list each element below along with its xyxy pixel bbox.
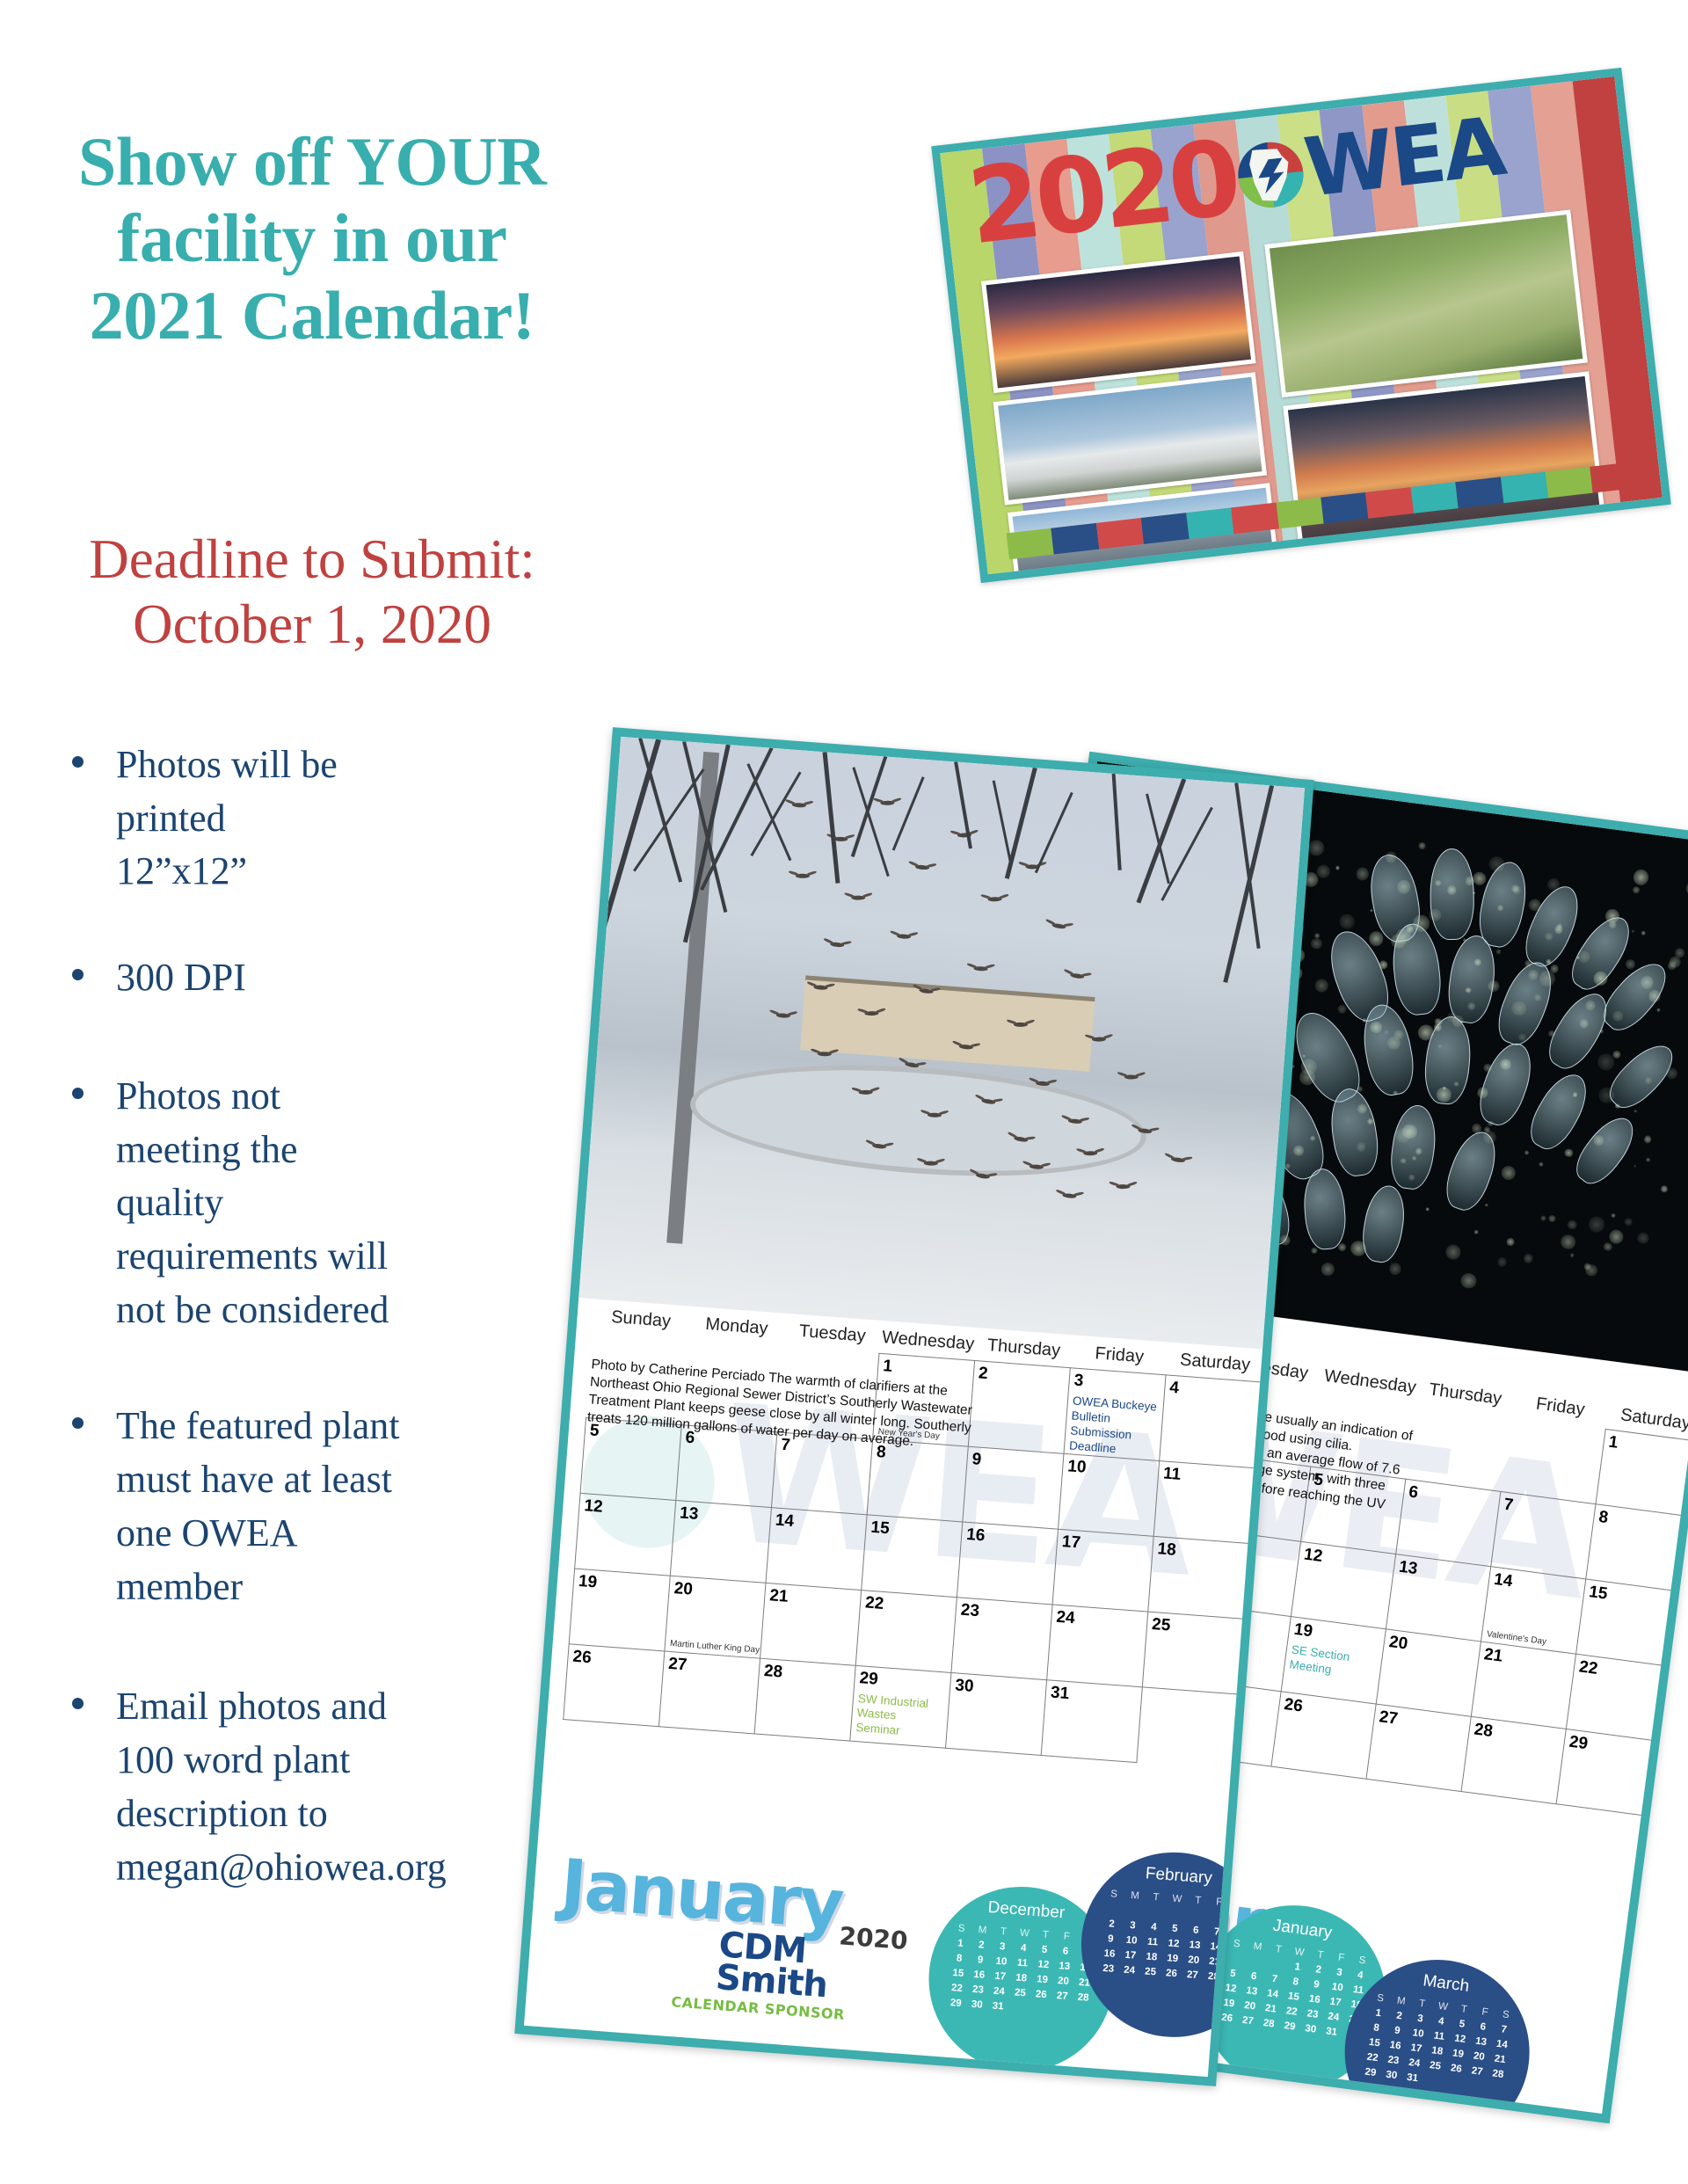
- cover-bottom-stripe-block: [1501, 472, 1548, 504]
- goose: [1014, 1023, 1028, 1027]
- calendar-day-cell[interactable]: 22: [855, 1590, 957, 1672]
- mini-day-number: [1008, 1999, 1030, 2016]
- mini-day-number: 11: [1011, 1955, 1033, 1971]
- floc-particle: [1637, 1232, 1649, 1244]
- calendar-day-cell[interactable]: 15: [1576, 1579, 1681, 1666]
- floc-particle: [1435, 879, 1441, 885]
- january-grid: SundayMondayTuesdayWednesdayThursdayFrid…: [563, 1306, 1263, 1769]
- goose: [988, 897, 1002, 901]
- mini-day-number: 28: [1073, 1989, 1095, 2006]
- mini-dow-label: T: [1035, 1926, 1057, 1943]
- calendar-day-cell[interactable]: 29: [1556, 1729, 1661, 1816]
- floc-particle: [1632, 886, 1640, 894]
- floc-particle: [1419, 842, 1426, 849]
- floc-particle: [1357, 1085, 1364, 1092]
- floc-particle: [1368, 930, 1385, 947]
- stalked-ciliate: [1358, 1183, 1409, 1265]
- mini-day-number: 6: [1054, 1943, 1076, 1960]
- january-calendar-page: WEA SundayMondayTuesdayWednesdayThursday…: [514, 727, 1313, 2086]
- tree-branch: [1112, 774, 1122, 870]
- calendar-day-cell[interactable]: 18: [1148, 1536, 1249, 1619]
- calendar-day-cell[interactable]: 17: [1052, 1529, 1153, 1612]
- mini-dow-label: W: [1166, 1890, 1188, 1907]
- floc-particle: [1473, 892, 1475, 894]
- mini-day-number: 6: [1185, 1922, 1207, 1939]
- mini-day-number: 26: [1160, 1965, 1182, 1982]
- mini-day-number: 11: [1142, 1933, 1164, 1950]
- mini-day-number: 8: [949, 1950, 971, 1967]
- goose: [880, 801, 894, 805]
- floc-particle: [1279, 1234, 1291, 1246]
- cdm-smith-sponsor-logo: CDM Smith CALENDAR SPONSOR: [671, 1926, 851, 2023]
- calendar-day-cell[interactable]: 8: [1586, 1504, 1688, 1591]
- calendar-cell-empty: [1137, 1686, 1238, 1769]
- mini-dow-label: T: [1267, 1940, 1290, 1958]
- tree-branch: [746, 763, 791, 861]
- calendar-cover-image: 2020 WEA: [931, 68, 1671, 583]
- goose: [776, 1013, 790, 1018]
- calendar-day-cell[interactable]: 16: [957, 1521, 1058, 1604]
- mini-day-number: [1050, 2003, 1072, 2020]
- cover-bottom-stripe-block: [1186, 507, 1233, 539]
- floc-particle: [1611, 1213, 1616, 1219]
- deadline-label: Deadline to Submit:: [18, 528, 607, 593]
- floc-particle: [1307, 839, 1325, 856]
- calendar-day-cell[interactable]: 27: [658, 1650, 760, 1733]
- mini-dow-label: W: [1288, 1943, 1311, 1961]
- floc-particle: [1463, 938, 1466, 942]
- cover-bottom-stripe-block: [1410, 482, 1458, 513]
- floc-particle: [1668, 961, 1677, 970]
- list-item: The featured plant must have at least on…: [62, 1400, 431, 1613]
- goose: [792, 803, 806, 808]
- floc-particle: [1675, 948, 1685, 958]
- goose: [897, 934, 911, 939]
- floc-particle: [1454, 1081, 1459, 1087]
- mini-day-number: [1422, 2071, 1444, 2089]
- mini-dow-label: T: [1452, 2000, 1475, 2018]
- mini-day-number: 16: [1098, 1946, 1120, 1962]
- floc-particle: [1660, 1185, 1669, 1194]
- mini-day-number: [1165, 1905, 1187, 1922]
- calendar-day-cell[interactable]: 28: [1461, 1716, 1566, 1803]
- floc-particle: [1612, 1050, 1621, 1059]
- day-number: 4: [1165, 1375, 1262, 1404]
- requirements-list: Photos will be printed 12”x12” 300 DPI P…: [62, 739, 615, 1947]
- mini-dow-label: F: [1208, 1894, 1230, 1911]
- list-item: Photos not meeting the quality requireme…: [62, 1070, 391, 1337]
- mini-day-number: 27: [1182, 1967, 1204, 1984]
- floc-particle: [1599, 1030, 1604, 1034]
- cover-org-text: WEA: [1300, 106, 1507, 209]
- calendar-day-cell[interactable]: 13: [670, 1500, 771, 1583]
- floc-particle: [1379, 959, 1389, 970]
- mini-dow-label: T: [1309, 1946, 1332, 1963]
- mini-day-number: 18: [1140, 1948, 1162, 1965]
- floc-particle: [1524, 1150, 1529, 1155]
- floc-particle: [1285, 1163, 1291, 1168]
- cover-year-text: 2020: [964, 126, 1241, 259]
- goose: [818, 1052, 832, 1056]
- goose: [976, 1173, 991, 1180]
- mini-day-number: 24: [988, 1983, 1010, 1999]
- calendar-day-cell[interactable]: 14Valentine's Day: [1481, 1567, 1585, 1654]
- floc-particle: [1561, 1234, 1576, 1249]
- floc-particle: [1646, 1158, 1651, 1163]
- calendar-day-cell[interactable]: 29SW Industrial Wastes Seminar: [850, 1665, 951, 1748]
- mini-date-table: SMTWTFS123456789101112131415161718192021…: [945, 1920, 1099, 2020]
- mini-day-number: 17: [989, 1968, 1011, 1984]
- mini-day-number: [1443, 2074, 1466, 2092]
- mini-day-number: [1102, 1901, 1124, 1918]
- mini-day-number: 28: [1257, 2014, 1280, 2032]
- floc-particle: [1412, 914, 1430, 932]
- mini-day-number: 1: [949, 1935, 971, 1952]
- calendar-day-cell[interactable]: 19SE Section Meeting: [1281, 1617, 1386, 1704]
- floc-particle: [1339, 913, 1356, 929]
- floc-particle: [1425, 1208, 1429, 1212]
- mini-day-number: 18: [1010, 1969, 1032, 1986]
- mini-day-number: 19: [1031, 1971, 1053, 1988]
- calendar-day-cell[interactable]: 12: [1291, 1541, 1395, 1628]
- tree-branch: [1223, 785, 1274, 983]
- floc-particle: [1550, 965, 1560, 974]
- cover-bottom-stripe-block: [1590, 462, 1638, 493]
- mini-day-number: 31: [1321, 2023, 1343, 2041]
- calendar-day-cell[interactable]: 7: [1491, 1491, 1596, 1578]
- mini-day-number: 23: [967, 1981, 989, 1998]
- floc-particle: [1309, 1135, 1315, 1141]
- mini-day-number: 9: [969, 1952, 991, 1969]
- floc-particle: [1384, 1030, 1388, 1034]
- mini-day-number: 26: [1030, 1986, 1052, 2003]
- page-title: Show off YOUR facility in our 2021 Calen…: [18, 123, 607, 353]
- floc-particle: [1643, 1135, 1652, 1144]
- mini-day-number: 15: [947, 1965, 969, 1982]
- mini-day-number: [1029, 2001, 1051, 2018]
- floc-particle: [1665, 1067, 1678, 1080]
- goose: [973, 966, 987, 972]
- floc-particle: [1321, 1263, 1335, 1277]
- mini-day-number: 12: [1032, 1956, 1054, 1973]
- floc-particle: [1641, 931, 1646, 936]
- floc-particle: [1311, 1248, 1318, 1255]
- calendar-day-cell[interactable]: 11: [1153, 1460, 1255, 1543]
- goose: [1092, 1037, 1106, 1041]
- mini-dow-label: T: [993, 1923, 1015, 1940]
- mini-day-number: 20: [1052, 1973, 1074, 1990]
- floc-particle: [1633, 1110, 1637, 1113]
- cover-bottom-stripe-block: [1456, 477, 1503, 508]
- floc-particle: [1546, 958, 1551, 964]
- mini-day-number: 22: [946, 1980, 968, 1997]
- calendar-day-cell[interactable]: 26: [1271, 1692, 1376, 1779]
- mini-day-number: 3: [1122, 1917, 1144, 1933]
- calendar-day-cell[interactable]: 15: [862, 1514, 963, 1597]
- mini-dow-label: M: [1124, 1888, 1146, 1904]
- list-item: 300 DPI: [62, 951, 343, 1005]
- floc-particle: [1389, 1263, 1402, 1276]
- floc-particle: [1548, 1215, 1556, 1223]
- tree-branch: [1137, 778, 1187, 903]
- mini-day-number: 9: [1100, 1931, 1122, 1947]
- stalked-ciliate: [1568, 1109, 1643, 1191]
- floc-particle: [1314, 979, 1328, 993]
- calendar-day-cell[interactable]: 30: [946, 1672, 1047, 1755]
- cover-bottom-stripe-block: [1231, 503, 1278, 535]
- mini-day-number: 17: [1119, 1947, 1141, 1963]
- calendar-day-cell[interactable]: 10: [1059, 1453, 1160, 1536]
- calendar-day-cell[interactable]: 21: [1471, 1642, 1575, 1729]
- cover-bottom-stripe-block: [1096, 518, 1144, 550]
- floc-particle: [1337, 1004, 1347, 1014]
- mini-dow-label: M: [971, 1922, 993, 1939]
- calendar-cell-empty: [1501, 1416, 1605, 1503]
- floc-particle: [1564, 1148, 1574, 1158]
- floc-particle: [1316, 863, 1331, 878]
- floc-particle: [1603, 1242, 1612, 1252]
- cover-bottom-stripe-block: [1365, 487, 1413, 519]
- calendar-event-label: OWEA Buckeye Bulletin Submission Deadlin…: [1065, 1390, 1164, 1460]
- mini-dow-label: T: [1145, 1889, 1167, 1905]
- mini-day-number: 31: [1401, 2069, 1424, 2086]
- mini-day-number: 25: [1139, 1963, 1161, 1980]
- calendar-day-cell[interactable]: 4: [1160, 1375, 1262, 1467]
- mini-dow-label: T: [1187, 1892, 1209, 1909]
- goose: [1116, 1184, 1130, 1189]
- calendar-day-cell[interactable]: 21: [760, 1583, 862, 1665]
- mini-day-number: 2: [971, 1937, 993, 1954]
- calendar-day-cell[interactable]: 1: [1596, 1429, 1688, 1516]
- headline-line-1: Show off YOUR: [18, 123, 607, 200]
- calendar-day-cell[interactable]: 13: [1386, 1554, 1490, 1642]
- mini-dow-label: S: [950, 1920, 972, 1937]
- stalked-ciliate: [1472, 1037, 1539, 1132]
- floc-particle: [1338, 1242, 1347, 1251]
- floc-particle: [1460, 1272, 1478, 1290]
- mini-dow-label: M: [1390, 1992, 1413, 2010]
- floc-particle: [1302, 1054, 1306, 1058]
- floc-particle: [1657, 1008, 1661, 1011]
- floc-particle: [1540, 1216, 1546, 1222]
- mini-day-number: 25: [1009, 1984, 1031, 2001]
- mini-day-number: 20: [1182, 1952, 1204, 1969]
- flyer-text-column: Show off YOUR facility in our 2021 Calen…: [0, 0, 615, 2184]
- calendar-day-cell[interactable]: 28: [754, 1658, 855, 1741]
- deadline-notice: Deadline to Submit: October 1, 2020: [18, 528, 607, 657]
- floc-particle: [1472, 871, 1487, 886]
- calendar-day-cell[interactable]: 24: [1047, 1604, 1148, 1686]
- calendar-day-cell[interactable]: 23: [951, 1597, 1052, 1679]
- floc-particle: [1485, 1204, 1488, 1207]
- mini-dow-label: T: [1411, 1995, 1434, 2013]
- mini-day-number: 27: [1236, 2012, 1259, 2029]
- mini-day-number: [1186, 1907, 1208, 1924]
- calendar-cell-empty: [1406, 1404, 1510, 1491]
- cover-bottom-stripe-block: [1141, 513, 1189, 544]
- mini-dow-label: W: [1431, 1998, 1454, 2015]
- calendar-event-label: SW Industrial Wastes Seminar: [851, 1687, 949, 1743]
- mini-day-number: 10: [990, 1953, 1012, 1969]
- headline-line-3: 2021 Calendar!: [18, 277, 607, 353]
- list-item: Photos will be printed 12”x12”: [62, 739, 343, 899]
- calendar-day-cell[interactable]: 3OWEA Buckeye Bulletin Submission Deadli…: [1064, 1368, 1166, 1460]
- goose: [1171, 1157, 1186, 1163]
- mini-day-number: 27: [1051, 1988, 1073, 2005]
- floc-particle: [1488, 979, 1500, 992]
- mini-date-table: SMTWTFS123456789101112131415161718192021…: [1359, 1990, 1517, 2098]
- cover-bottom-stripe-block: [1546, 467, 1593, 499]
- goose: [1062, 1193, 1076, 1198]
- stalked-ciliate: [1522, 1067, 1597, 1157]
- mini-day-number: 30: [1380, 2066, 1403, 2084]
- mini-day-number: [1207, 1909, 1229, 1926]
- calendar-day-cell[interactable]: 25: [1142, 1612, 1243, 1694]
- floc-particle: [1633, 869, 1650, 886]
- goose: [915, 864, 929, 870]
- calendar-day-cell[interactable]: 2: [968, 1360, 1070, 1452]
- floc-particle: [1335, 865, 1340, 870]
- mini-day-number: 30: [1299, 2020, 1322, 2037]
- goose: [796, 874, 810, 878]
- floc-particle: [1473, 1229, 1479, 1234]
- mini-day-number: 31: [987, 1998, 1009, 2014]
- mini-day-number: 29: [1359, 2064, 1382, 2081]
- tree-branch: [1035, 792, 1073, 873]
- floc-particle: [1356, 867, 1370, 881]
- mini-dow-label: S: [1495, 2006, 1517, 2023]
- mini-day-number: 29: [945, 1995, 967, 2012]
- goose: [830, 942, 844, 948]
- mini-dow-label: F: [1056, 1928, 1078, 1945]
- floc-particle: [1488, 1120, 1494, 1126]
- mini-day-number: 10: [1121, 1932, 1143, 1948]
- floc-particle: [1310, 937, 1322, 950]
- floc-particle: [1609, 1228, 1625, 1244]
- goose: [1051, 923, 1066, 930]
- cover-bottom-stripe-block: [1276, 498, 1323, 529]
- calendar-day-cell[interactable]: 31: [1041, 1679, 1142, 1762]
- floc-particle: [1626, 959, 1636, 970]
- headline-line-2: facility in our: [18, 200, 607, 276]
- calendar-day-cell[interactable]: 6: [1396, 1479, 1501, 1566]
- mini-dow-label: S: [1226, 1935, 1248, 1953]
- mini-day-number: [1144, 1904, 1166, 1920]
- mini-day-number: 21: [1204, 1954, 1226, 1970]
- bare-tree-branches: [621, 737, 1305, 788]
- floc-particle: [1370, 909, 1373, 913]
- cover-bottom-stripe-block: [1051, 523, 1099, 555]
- floc-particle: [1624, 1218, 1633, 1227]
- floc-particle: [1567, 1219, 1577, 1230]
- floc-particle: [1444, 1244, 1461, 1261]
- floc-particle: [1518, 1033, 1526, 1041]
- mini-dow-label: M: [1247, 1938, 1270, 1955]
- mini-day-number: 12: [1162, 1935, 1184, 1952]
- calendar-day-cell[interactable]: 9: [963, 1446, 1064, 1529]
- calendar-day-cell[interactable]: 27: [1366, 1704, 1471, 1791]
- floc-particle: [1631, 929, 1634, 933]
- stalked-ciliate: [1301, 1167, 1348, 1250]
- mini-day-number: 23: [1097, 1960, 1119, 1977]
- mini-day-number: 16: [968, 1966, 990, 1983]
- mini-day-number: [1485, 2080, 1508, 2098]
- tree-branch: [823, 752, 840, 884]
- floc-particle: [1633, 1164, 1636, 1167]
- tree-branch: [892, 776, 925, 850]
- floc-particle: [1495, 949, 1502, 955]
- floc-particle: [1501, 1165, 1517, 1182]
- mini-day-number: 30: [966, 1996, 988, 2013]
- mini-day-number: 13: [1183, 1937, 1205, 1954]
- goose: [924, 1161, 938, 1165]
- goose: [851, 896, 865, 900]
- calendar-day-cell[interactable]: 20: [1376, 1629, 1481, 1716]
- mini-day-number: 24: [1118, 1962, 1140, 1978]
- calendar-day-cell[interactable]: 20Martin Luther King Day: [665, 1576, 766, 1658]
- cover-bottom-stripe-block: [1007, 528, 1054, 560]
- mini-day-number: [1464, 2077, 1487, 2094]
- calendar-day-cell[interactable]: 22: [1566, 1654, 1670, 1741]
- mini-day-number: [1071, 2004, 1093, 2020]
- floc-particle: [1588, 1216, 1605, 1234]
- mini-day-number: 4: [1143, 1918, 1165, 1935]
- mini-dow-label: W: [1014, 1925, 1036, 1941]
- mini-dow-label: S: [1102, 1886, 1124, 1903]
- mini-day-number: 3: [992, 1938, 1014, 1955]
- floc-particle: [1570, 1253, 1575, 1257]
- mini-day-number: 5: [1164, 1920, 1186, 1937]
- goose: [1124, 1074, 1139, 1079]
- goose: [928, 1113, 942, 1117]
- owea-ohio-bolt-logo-icon: [1235, 139, 1307, 211]
- tree-branch: [993, 780, 1012, 863]
- mini-day-number: 29: [1278, 2017, 1301, 2035]
- mini-day-number: 28: [1203, 1968, 1225, 1984]
- mini-day-number: 13: [1053, 1958, 1075, 1975]
- floc-particle: [1523, 1253, 1533, 1263]
- floc-particle: [1497, 1257, 1507, 1267]
- geese-winter-photo: [578, 737, 1305, 1350]
- mini-calendar-march: March SMTWTFS123456789101112131415161718…: [1334, 1948, 1541, 2114]
- floc-particle: [1584, 1263, 1598, 1278]
- day-number: 2: [973, 1361, 1070, 1390]
- mini-dow-label: F: [1330, 1948, 1353, 1966]
- mini-day-number: [1123, 1902, 1145, 1918]
- plant-building: [800, 975, 1095, 1072]
- mini-dow-label: S: [1369, 1990, 1392, 2007]
- mini-day-number: 4: [1013, 1940, 1035, 1956]
- calendar-day-cell[interactable]: 14: [766, 1507, 867, 1590]
- cover-bottom-stripe-block: [1321, 492, 1368, 524]
- goose: [1070, 972, 1085, 979]
- mini-day-number: 19: [1161, 1950, 1183, 1967]
- mini-day-number: 5: [1034, 1941, 1056, 1958]
- tree-branch: [852, 767, 889, 877]
- mini-day-number: 2: [1101, 1916, 1123, 1933]
- mini-day-number: 7: [1206, 1924, 1228, 1940]
- floc-particle: [1506, 1237, 1515, 1246]
- deadline-date: October 1, 2020: [18, 593, 607, 658]
- floc-particle: [1615, 1103, 1620, 1109]
- floc-particle: [1539, 1161, 1544, 1167]
- mini-day-number: 14: [1204, 1939, 1226, 1955]
- mini-dow-label: F: [1473, 2003, 1496, 2020]
- list-item: Email photos and 100 word plant descript…: [62, 1680, 413, 1894]
